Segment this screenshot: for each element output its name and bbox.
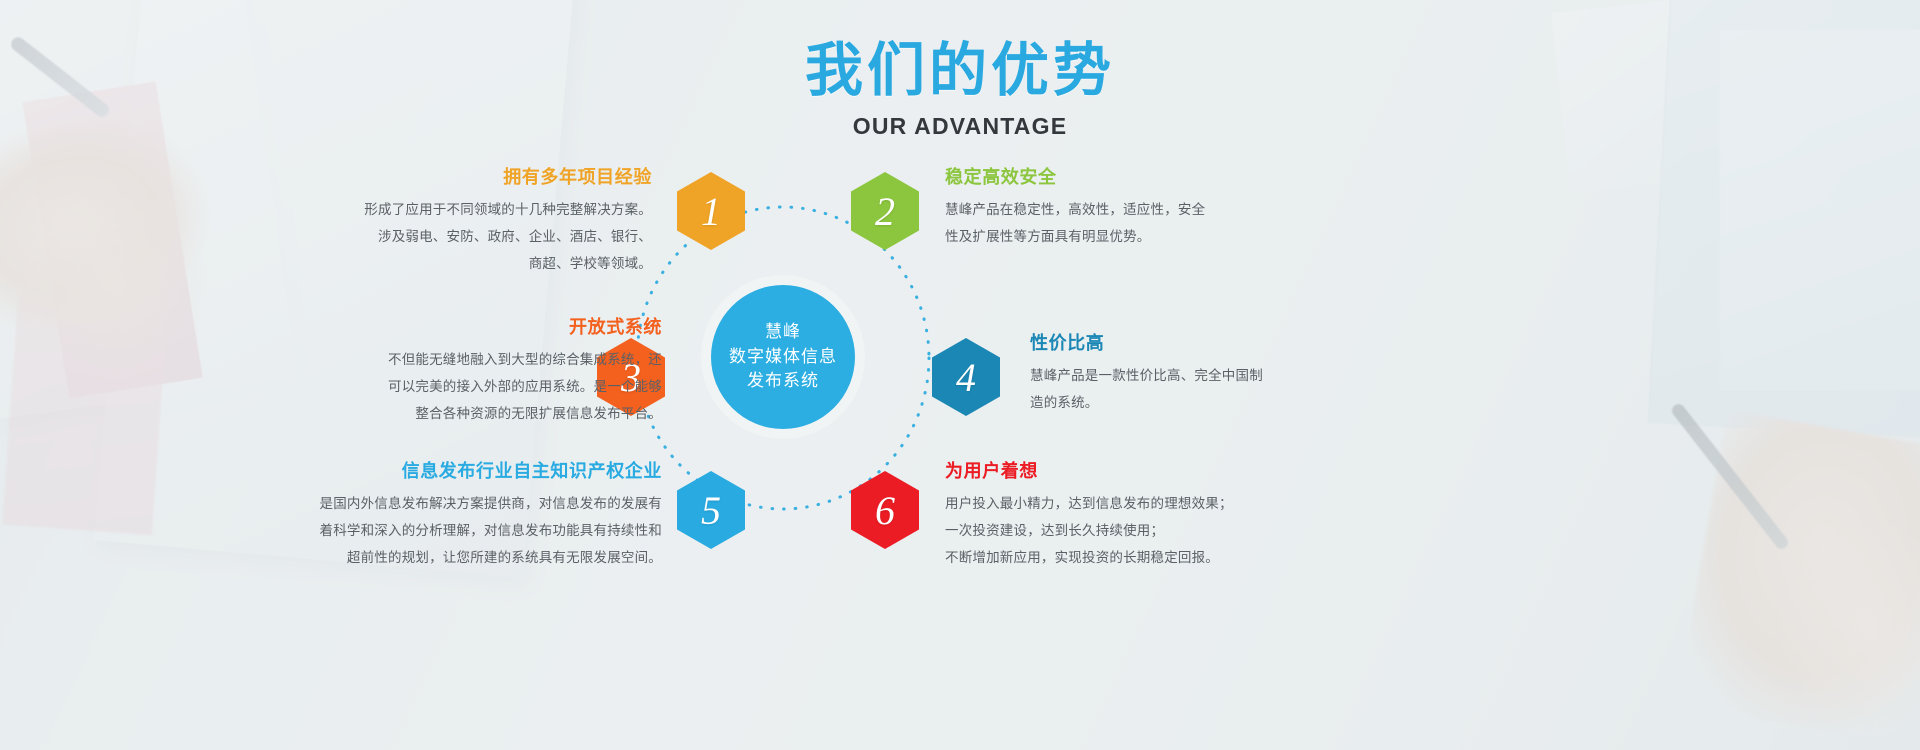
advantage-heading-2: 稳定高效安全 bbox=[945, 168, 1305, 186]
advantage-block-4: 性价比高 慧峰产品是一款性价比高、完全中国制 造的系统。 bbox=[1030, 334, 1360, 416]
hexagon-badge-4[interactable]: 4 bbox=[932, 338, 1000, 416]
advantage-block-6: 为用户着想 用户投入最小精力，达到信息发布的理想效果； 一次投资建设，达到长久持… bbox=[945, 462, 1295, 571]
advantage-block-3: 开放式系统 不但能无缝地融入到大型的综合集成系统，还 可以完美的接入外部的应用系… bbox=[300, 318, 662, 427]
advantage-body-1: 形成了应用于不同领域的十几种完整解决方案。 涉及弱电、安防、政府、企业、酒店、银… bbox=[300, 196, 652, 277]
advantage-heading-1: 拥有多年项目经验 bbox=[300, 168, 652, 186]
center-line-3: 发布系统 bbox=[747, 369, 819, 394]
advantage-body-line: 整合各种资源的无限扩展信息发布平台。 bbox=[415, 406, 662, 421]
advantage-body-line: 超前性的规划，让您所建的系统具有无限发展空间。 bbox=[347, 550, 662, 565]
advantage-body-2: 慧峰产品在稳定性，高效性，适应性，安全 性及扩展性等方面具有明显优势。 bbox=[945, 196, 1305, 250]
page-title-zh: 我们的优势 bbox=[0, 42, 1920, 100]
infographic-content: 我们的优势 OUR ADVANTAGE 慧峰 数字媒体信息 发布系统 1 2 3… bbox=[0, 0, 1920, 750]
center-line-1: 慧峰 bbox=[765, 320, 801, 345]
advantage-heading-4: 性价比高 bbox=[1030, 334, 1360, 352]
advantage-block-2: 稳定高效安全 慧峰产品在稳定性，高效性，适应性，安全 性及扩展性等方面具有明显优… bbox=[945, 168, 1305, 250]
advantage-body-line: 涉及弱电、安防、政府、企业、酒店、银行、 bbox=[378, 229, 652, 244]
advantage-heading-5: 信息发布行业自主知识产权企业 bbox=[290, 462, 662, 480]
advantage-block-1: 拥有多年项目经验 形成了应用于不同领域的十几种完整解决方案。 涉及弱电、安防、政… bbox=[300, 168, 652, 277]
advantage-body-line: 形成了应用于不同领域的十几种完整解决方案。 bbox=[364, 202, 652, 217]
advantage-body-3: 不但能无缝地融入到大型的综合集成系统，还 可以完美的接入外部的应用系统。是一个能… bbox=[300, 346, 662, 427]
advantage-body-line: 不但能无缝地融入到大型的综合集成系统，还 bbox=[388, 352, 662, 367]
hexagon-number-4: 4 bbox=[956, 354, 976, 401]
advantage-body-line: 不断增加新应用，实现投资的长期稳定回报。 bbox=[945, 550, 1219, 565]
advantage-body-line: 是国内外信息发布解决方案提供商，对信息发布的发展有 bbox=[320, 496, 663, 511]
advantage-body-line: 性及扩展性等方面具有明显优势。 bbox=[945, 229, 1151, 244]
hexagon-number-2: 2 bbox=[875, 188, 895, 235]
advantage-heading-3: 开放式系统 bbox=[300, 318, 662, 336]
advantage-body-line: 可以完美的接入外部的应用系统。是一个能够 bbox=[388, 379, 662, 394]
advantage-body-line: 一次投资建设，达到长久持续使用； bbox=[945, 523, 1164, 538]
advantage-body-line: 造的系统。 bbox=[1030, 395, 1099, 410]
advantage-heading-6: 为用户着想 bbox=[945, 462, 1295, 480]
advantage-body-line: 用户投入最小精力，达到信息发布的理想效果； bbox=[945, 496, 1233, 511]
advantage-body-line: 慧峰产品在稳定性，高效性，适应性，安全 bbox=[945, 202, 1205, 217]
advantage-body-line: 商超、学校等领域。 bbox=[529, 256, 652, 271]
hexagon-number-1: 1 bbox=[701, 188, 721, 235]
advantage-body-4: 慧峰产品是一款性价比高、完全中国制 造的系统。 bbox=[1030, 362, 1360, 416]
hexagon-number-6: 6 bbox=[875, 487, 895, 534]
center-line-2: 数字媒体信息 bbox=[729, 345, 837, 370]
page-title-en: OUR ADVANTAGE bbox=[0, 113, 1920, 140]
advantage-body-line: 着科学和深入的分析理解，对信息发布功能具有持续性和 bbox=[320, 523, 663, 538]
advantage-block-5: 信息发布行业自主知识产权企业 是国内外信息发布解决方案提供商，对信息发布的发展有… bbox=[290, 462, 662, 571]
advantage-body-line: 慧峰产品是一款性价比高、完全中国制 bbox=[1030, 368, 1263, 383]
hexagon-number-5: 5 bbox=[701, 487, 721, 534]
center-circle: 慧峰 数字媒体信息 发布系统 bbox=[711, 285, 855, 429]
advantage-body-6: 用户投入最小精力，达到信息发布的理想效果； 一次投资建设，达到长久持续使用； 不… bbox=[945, 490, 1295, 571]
advantage-body-5: 是国内外信息发布解决方案提供商，对信息发布的发展有 着科学和深入的分析理解，对信… bbox=[290, 490, 662, 571]
